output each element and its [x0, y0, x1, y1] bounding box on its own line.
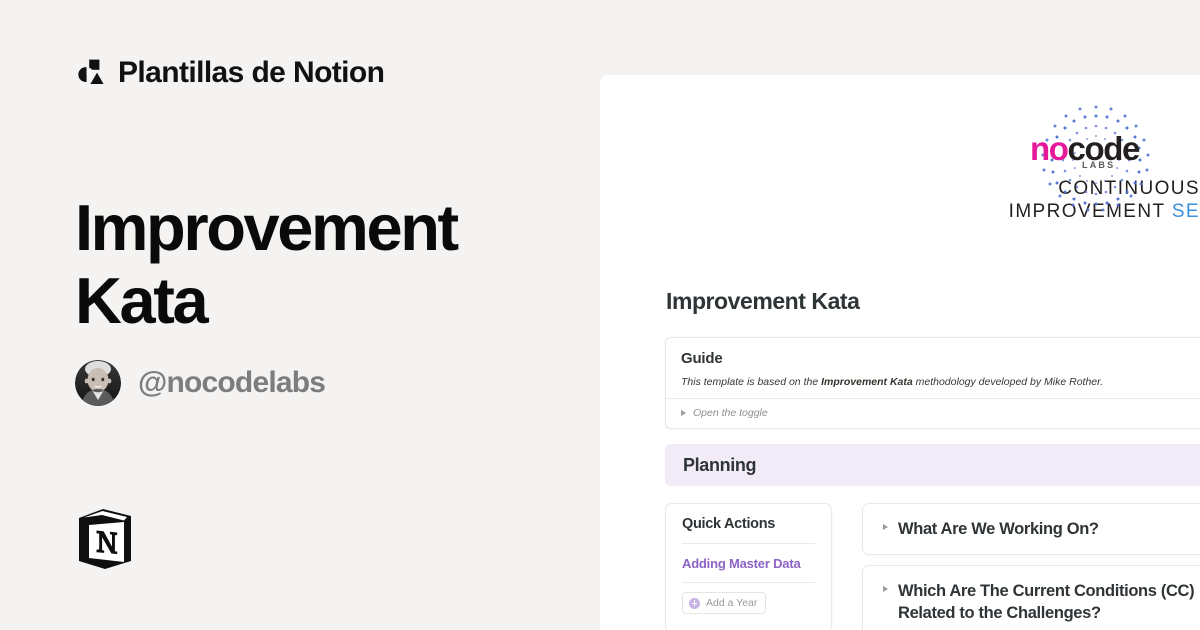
quick-actions-divider-1	[682, 543, 815, 544]
add-a-year-button[interactable]: Add a Year	[682, 592, 766, 614]
guide-callout-card: Guide This template is based on the Impr…	[665, 337, 1200, 429]
quick-actions-heading: Quick Actions	[682, 516, 815, 532]
guide-card-body: Guide This template is based on the Impr…	[666, 338, 1200, 398]
guide-toggle-row[interactable]: Open the toggle	[666, 399, 1200, 428]
avatar	[75, 360, 121, 406]
toggle-triangle-icon[interactable]	[681, 410, 686, 416]
planning-label: Planning	[683, 455, 756, 476]
left-hero-panel: Plantillas de Notion Improvement Kata	[0, 0, 600, 630]
toggle-label[interactable]: Which Are The Current Conditions (CC) Re…	[898, 580, 1200, 624]
logo-word-labs: LABS	[1082, 160, 1115, 170]
toggle-triangle-icon[interactable]	[883, 586, 888, 592]
guide-text-bold: Improvement Kata	[821, 376, 913, 388]
author-row[interactable]: @nocodelabs	[75, 360, 325, 406]
toggle-label[interactable]: What Are We Working On?	[898, 518, 1099, 540]
toggle-card-current-conditions[interactable]: Which Are The Current Conditions (CC) Re…	[862, 565, 1200, 630]
quick-actions-card: Quick Actions Adding Master Data Add a Y…	[665, 503, 832, 630]
guide-heading: Guide	[681, 350, 1200, 367]
quick-actions-divider-2	[682, 582, 815, 583]
guide-toggle-label[interactable]: Open the toggle	[693, 407, 768, 419]
brand-title: Plantillas de Notion	[118, 56, 384, 90]
adding-master-data-link[interactable]: Adding Master Data	[682, 555, 815, 572]
notion-cube-logo	[75, 505, 135, 571]
guide-description: This template is based on the Improvemen…	[681, 375, 1200, 390]
planning-section-banner: Planning	[665, 444, 1200, 486]
add-a-year-label: Add a Year	[706, 597, 757, 609]
logo-word-no: no	[1030, 130, 1068, 168]
plus-circle-icon	[689, 598, 700, 609]
guide-text-before: This template is based on the	[681, 376, 821, 388]
document-title: Improvement Kata	[666, 288, 859, 315]
guide-text-after: methodology developed by Mike Rother.	[913, 376, 1103, 388]
tagline-line-2-accent: SE	[1172, 201, 1200, 222]
brand-row: Plantillas de Notion	[75, 56, 384, 90]
toggle-triangle-icon[interactable]	[883, 524, 888, 530]
shapes-icon	[75, 58, 105, 88]
page-title: Improvement Kata	[75, 192, 555, 338]
author-handle[interactable]: @nocodelabs	[138, 366, 325, 400]
toggle-card-what-are-we-working-on[interactable]: What Are We Working On?	[862, 503, 1200, 555]
